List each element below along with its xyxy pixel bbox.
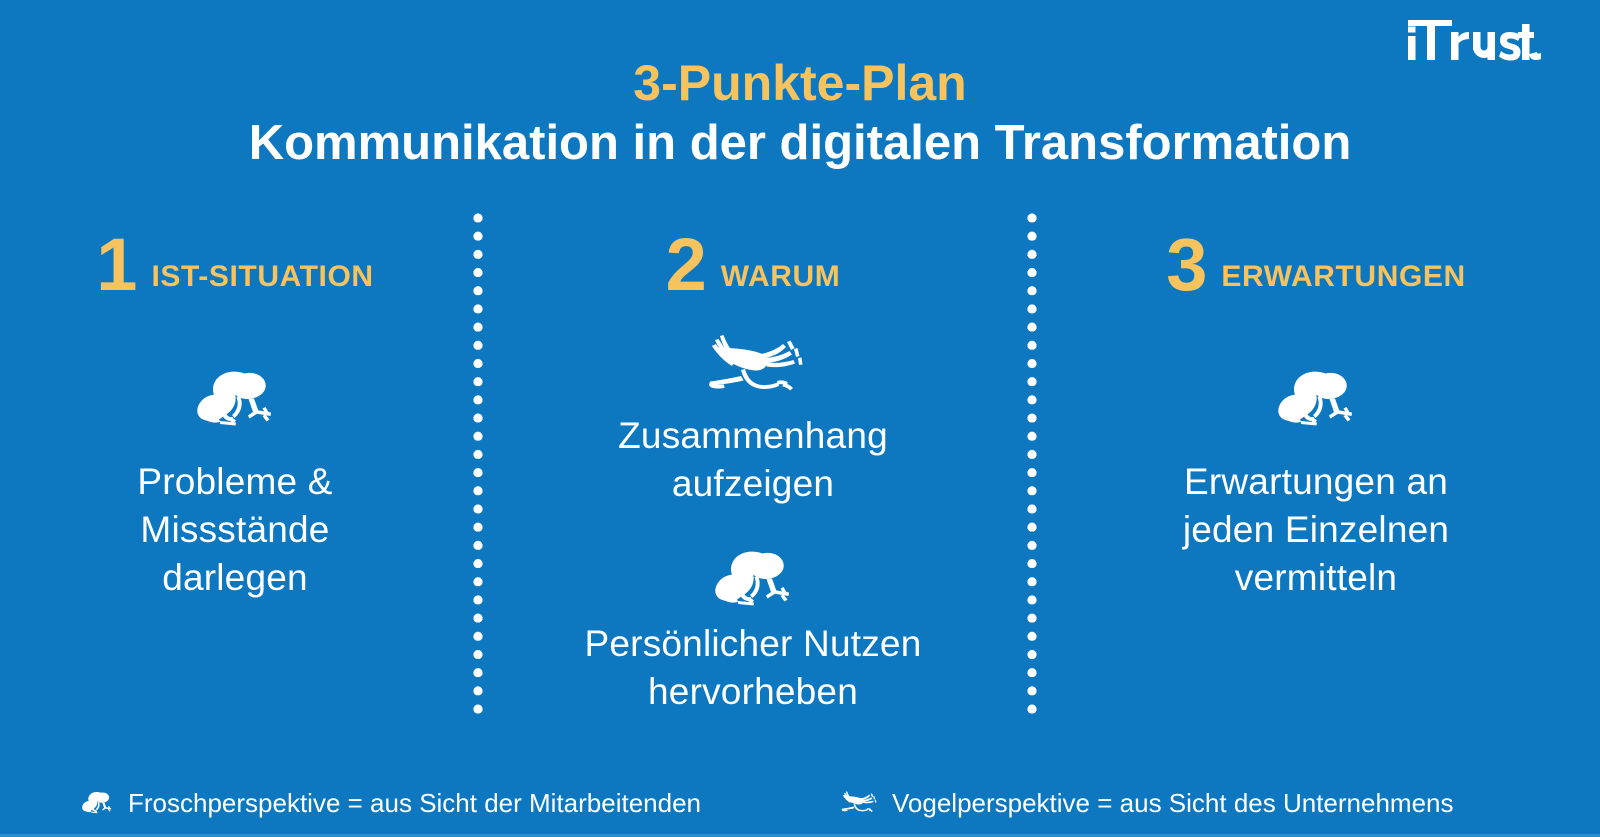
frog-icon [483, 544, 1023, 606]
column-body: Probleme &Missständedarlegen [0, 364, 470, 602]
column-header: 1 IST-SITUATION [0, 228, 470, 302]
legend-bird-perspective: Vogelperspektive = aus Sicht des Unterne… [838, 789, 1454, 815]
item-text: Zusammenhangaufzeigen [483, 412, 1023, 508]
column-erwartungen: 3 ERWARTUNGEN [1036, 228, 1596, 602]
item-text: Erwartungen anjeden Einzelnenvermitteln [1036, 458, 1596, 602]
bird-icon [483, 334, 1023, 396]
column-title: ERWARTUNGEN [1221, 262, 1465, 292]
column-number: 1 [96, 228, 135, 302]
item-text: Persönlicher Nutzenhervorheben [483, 620, 1023, 716]
column-number: 3 [1166, 228, 1205, 302]
column-header: 2 WARUM [483, 228, 1023, 302]
frog-icon [1036, 364, 1596, 426]
column-body: Erwartungen anjeden Einzelnenvermitteln [1036, 364, 1596, 602]
frog-icon-glyph [80, 790, 114, 814]
bird-icon [838, 791, 878, 814]
legend-frog-perspective: Froschperspektive = aus Sicht der Mitarb… [80, 789, 701, 815]
column-divider-dotted [473, 213, 483, 721]
frog-icon [80, 790, 114, 814]
slide-canvas: 3-Punkte-Plan Kommunikation in der digit… [0, 0, 1600, 837]
page-subtitle: Kommunikation in der digitalen Transform… [0, 118, 1600, 169]
column-title: WARUM [721, 262, 841, 292]
column-body: Zusammenhangaufzeigen [483, 334, 1023, 716]
column-ist-situation: 1 IST-SITUATION [0, 228, 470, 602]
column-title: IST-SITUATION [151, 262, 373, 292]
frog-icon-glyph [1273, 368, 1359, 426]
itrust-logotype-icon [1406, 14, 1544, 62]
legend-label: Vogelperspektive = aus Sicht des Unterne… [892, 790, 1454, 816]
item-text: Probleme &Missständedarlegen [0, 458, 470, 602]
frog-icon-glyph [710, 548, 796, 606]
frog-icon [0, 364, 470, 426]
column-number: 2 [666, 228, 705, 302]
frog-icon-glyph [192, 368, 278, 426]
column-warum: 2 WARUM [483, 228, 1023, 716]
column-header: 3 ERWARTUNGEN [1036, 228, 1596, 302]
bird-icon-glyph [838, 791, 878, 814]
page-title: 3-Punkte-Plan [0, 57, 1600, 110]
legend-label: Froschperspektive = aus Sicht der Mitarb… [128, 790, 701, 816]
bird-icon-glyph [699, 334, 807, 396]
